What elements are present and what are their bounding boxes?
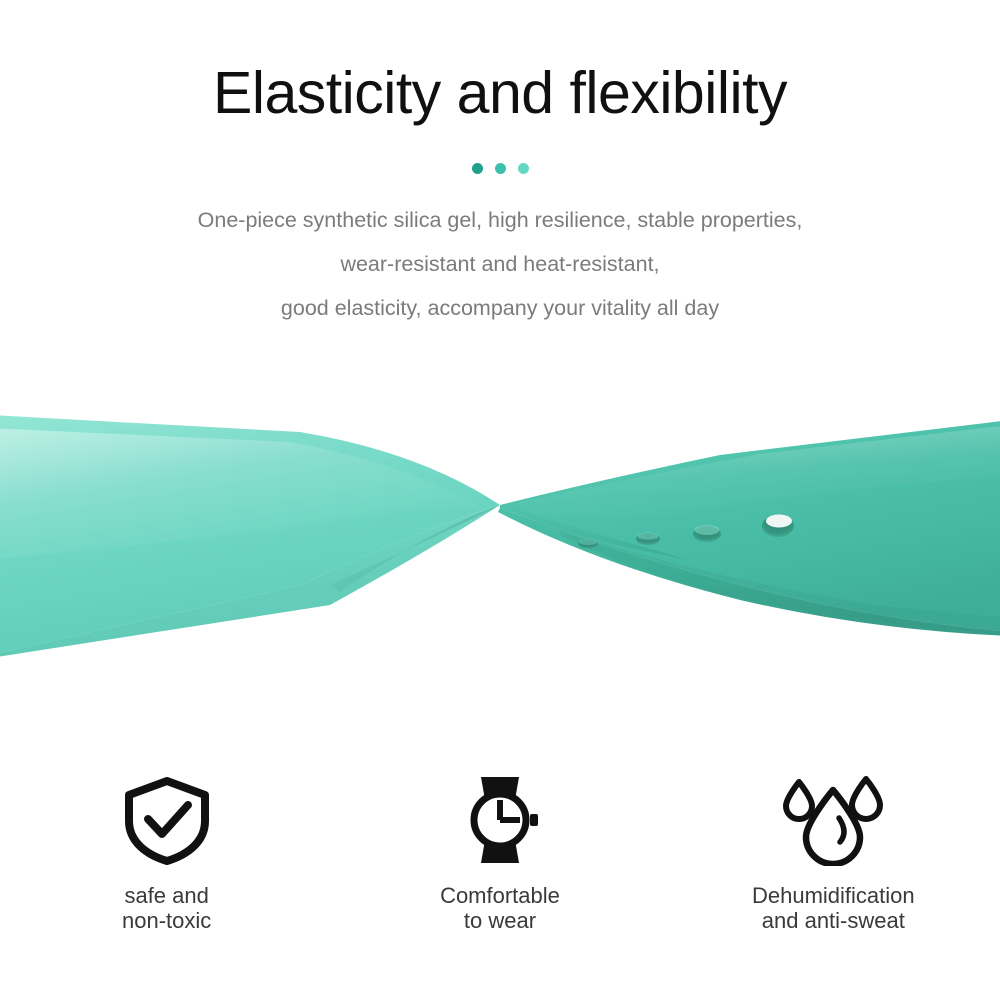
- watch-crown: [530, 814, 538, 826]
- feature-label-line-2: to wear: [440, 908, 560, 933]
- subtitle-line-3: good elasticity, accompany your vitality…: [0, 286, 1000, 330]
- product-feature-page: Elasticity and flexibility One-piece syn…: [0, 0, 1000, 1000]
- feature-label-comfortable-to-wear: Comfortable to wear: [440, 883, 560, 933]
- shield-check-icon: [121, 774, 213, 866]
- feature-label-safe-non-toxic: safe and non-toxic: [122, 883, 211, 933]
- water-drop-small-left: [786, 782, 812, 819]
- adjustment-hole-4-highlight: [766, 515, 792, 528]
- twisted-band-illustration: [0, 380, 1000, 680]
- feature-row: safe and non-toxic: [0, 770, 1000, 940]
- divider-dot-2: [495, 163, 506, 174]
- product-image: [0, 380, 1000, 680]
- feature-label-line-1: Comfortable: [440, 883, 560, 908]
- hole-1-rim: [579, 539, 597, 545]
- wristwatch-icon: [454, 774, 546, 866]
- divider-dot-1: [472, 163, 483, 174]
- feature-comfortable-to-wear: Comfortable to wear: [333, 770, 666, 940]
- feature-safe-non-toxic: safe and non-toxic: [0, 770, 333, 940]
- water-drop-highlight: [839, 818, 844, 842]
- subtitle-line-1: One-piece synthetic silica gel, high res…: [0, 198, 1000, 242]
- feature-icon-wrap: [454, 770, 546, 866]
- check-mark: [148, 805, 188, 834]
- subtitle-line-2: wear-resistant and heat-resistant,: [0, 242, 1000, 286]
- feature-label-line-2: and anti-sweat: [752, 908, 915, 933]
- divider-dots: [0, 163, 1000, 174]
- feature-label-line-2: non-toxic: [122, 908, 211, 933]
- water-drops-icon: [778, 774, 888, 866]
- feature-label-line-1: safe and: [122, 883, 211, 908]
- feature-label-line-1: Dehumidification: [752, 883, 915, 908]
- feature-icon-wrap: [121, 770, 213, 866]
- water-drop-medium-right: [852, 779, 880, 819]
- hole-3-rim: [695, 525, 720, 535]
- page-title: Elasticity and flexibility: [0, 62, 1000, 125]
- subtitle: One-piece synthetic silica gel, high res…: [0, 198, 1000, 330]
- hole-2-rim: [638, 532, 659, 540]
- feature-dehumidification-anti-sweat: Dehumidification and anti-sweat: [667, 770, 1000, 940]
- shield-outline: [129, 781, 205, 861]
- feature-icon-wrap: [778, 770, 888, 866]
- feature-label-dehumidification-anti-sweat: Dehumidification and anti-sweat: [752, 883, 915, 933]
- divider-dot-3: [518, 163, 529, 174]
